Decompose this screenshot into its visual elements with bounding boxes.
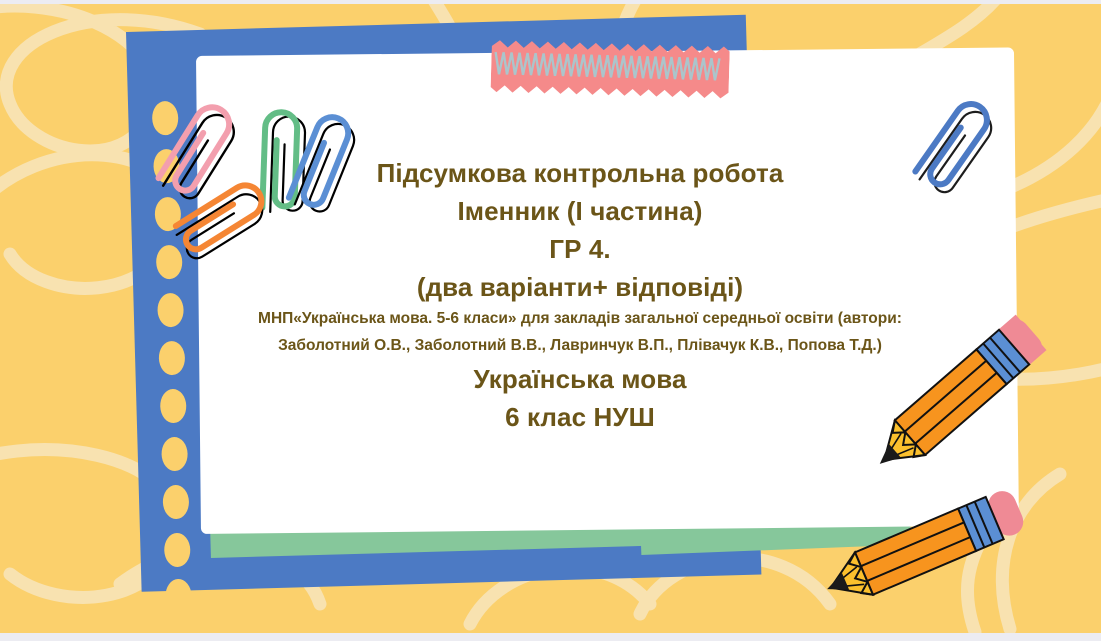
source-note-line-2: Заболотний О.В., Заболотний В.В., Лаврин… bbox=[210, 333, 950, 360]
bottom-chrome-bar bbox=[0, 633, 1101, 641]
title-line-2: Іменник (І частина) bbox=[210, 192, 950, 230]
pencil-lower-icon bbox=[780, 464, 1040, 633]
title-line-4: (два варіанти+ відповіді) bbox=[210, 268, 950, 306]
washi-tape bbox=[490, 38, 729, 101]
source-note-line-1: МНП«Українська мова. 5-6 класи» для закл… bbox=[210, 306, 950, 333]
title-line-3: ГР 4. bbox=[210, 230, 950, 268]
slide-text-block: Підсумкова контрольна робота Іменник (І … bbox=[210, 154, 950, 436]
title-line-1: Підсумкова контрольна робота bbox=[210, 154, 950, 192]
subject-line-1: Українська мова bbox=[210, 360, 950, 398]
slide-canvas: Підсумкова контрольна робота Іменник (І … bbox=[0, 4, 1101, 633]
subject-line-2: 6 клас НУШ bbox=[210, 398, 950, 436]
